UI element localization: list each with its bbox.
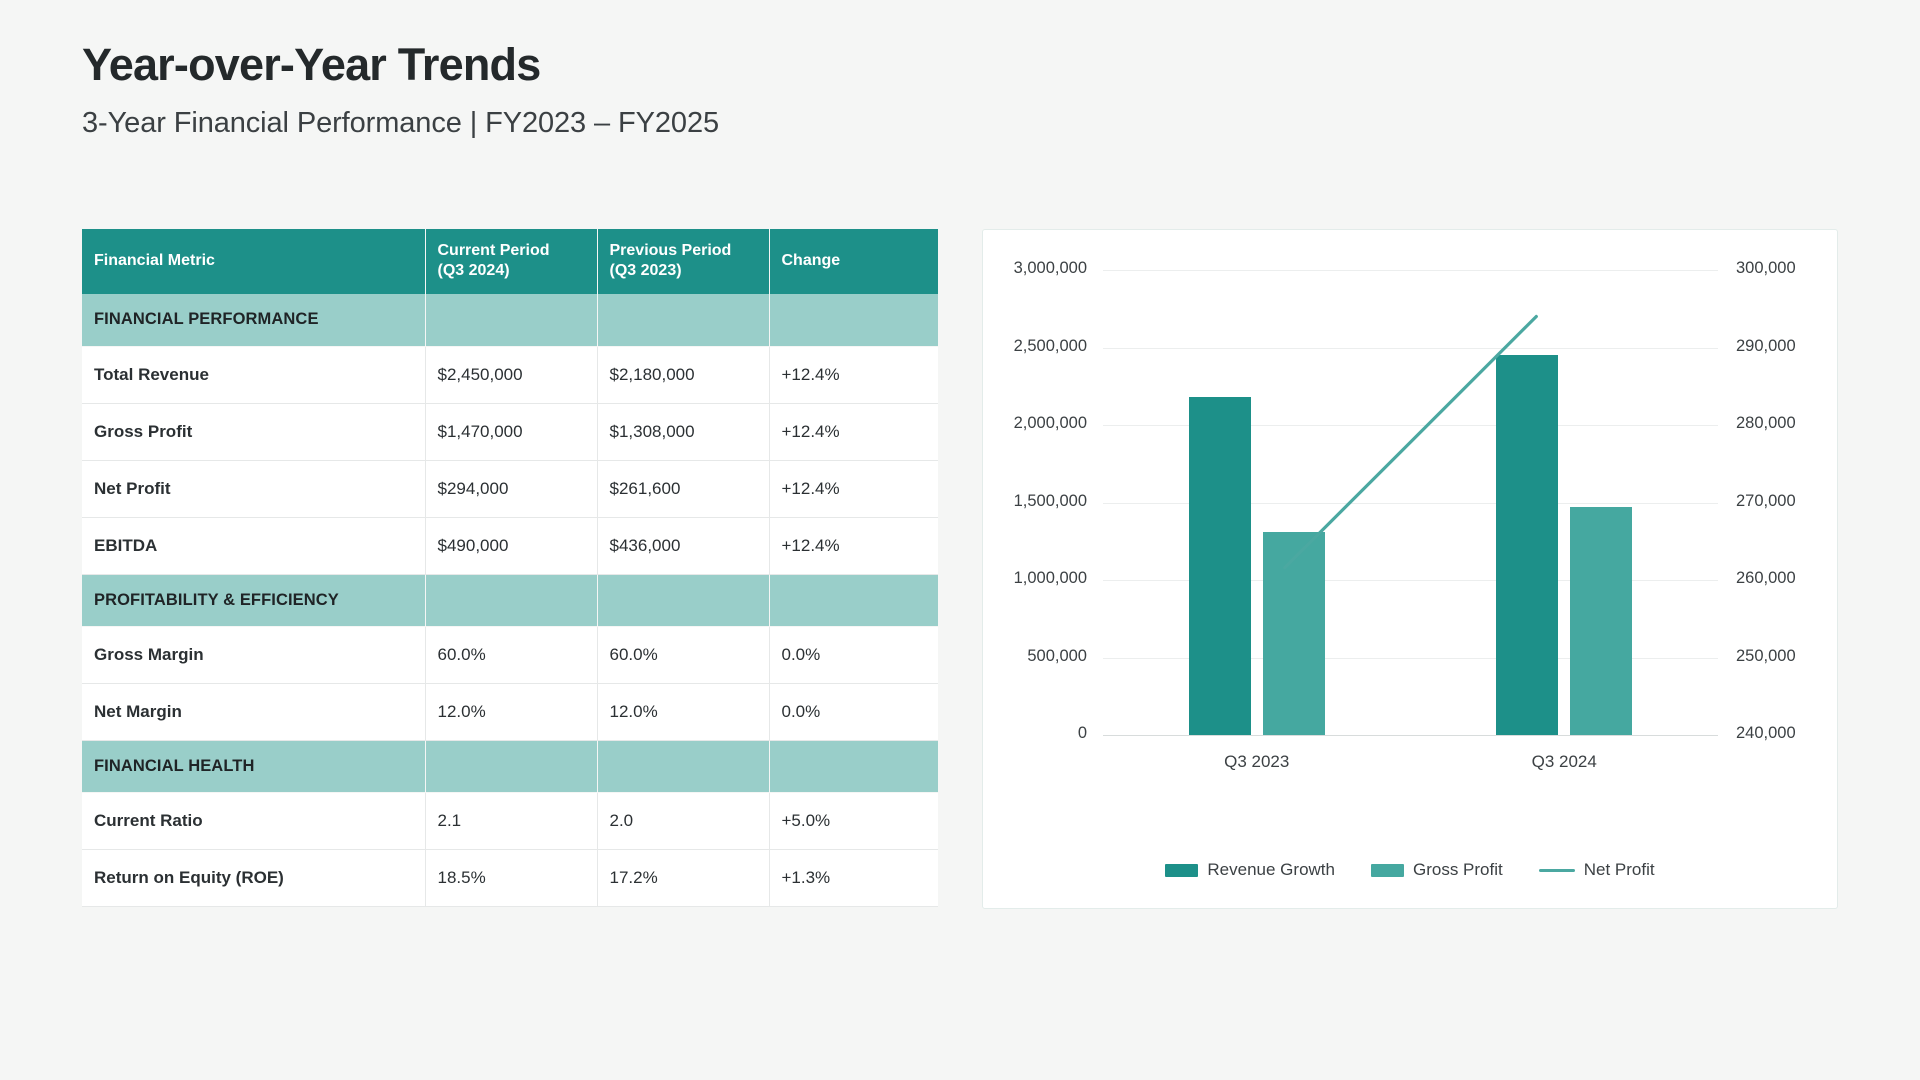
metric-value: $436,000: [597, 517, 769, 574]
table-section-row: FINANCIAL HEALTH: [82, 740, 938, 792]
metric-value: [597, 740, 769, 792]
legend-line-swatch-icon: [1539, 869, 1575, 872]
metric-label: Current Ratio: [82, 792, 425, 849]
chart-legend: Revenue GrowthGross ProfitNet Profit: [983, 860, 1837, 880]
metric-label: Net Margin: [82, 683, 425, 740]
table-body: FINANCIAL PERFORMANCETotal Revenue$2,450…: [82, 294, 938, 906]
legend-label: Net Profit: [1584, 860, 1655, 880]
table-row: Return on Equity (ROE)18.5%17.2%+1.3%: [82, 849, 938, 906]
column-header-line: Current Period: [438, 241, 585, 261]
table-row: EBITDA$490,000$436,000+12.4%: [82, 517, 938, 574]
financial-metrics-table-container: Financial MetricCurrent Period(Q3 2024)P…: [82, 229, 938, 907]
metric-label: Gross Profit: [82, 403, 425, 460]
metric-value: [425, 294, 597, 346]
metric-label: Return on Equity (ROE): [82, 849, 425, 906]
table-row: Current Ratio2.12.0+5.0%: [82, 792, 938, 849]
page-header: Year-over-Year Trends 3-Year Financial P…: [82, 40, 719, 140]
column-header-line: Previous Period: [610, 241, 757, 261]
metric-label: Gross Margin: [82, 626, 425, 683]
table-row: Total Revenue$2,450,000$2,180,000+12.4%: [82, 346, 938, 403]
section-label: FINANCIAL HEALTH: [82, 740, 425, 792]
legend-item-gross-profit[interactable]: Gross Profit: [1371, 860, 1503, 880]
column-header-line: Change: [782, 251, 927, 271]
table-row: Gross Profit$1,470,000$1,308,000+12.4%: [82, 403, 938, 460]
metric-value: 2.0: [597, 792, 769, 849]
metric-value: [769, 740, 938, 792]
legend-label: Revenue Growth: [1207, 860, 1335, 880]
column-header-line: Financial Metric: [94, 251, 413, 271]
page-title: Year-over-Year Trends: [82, 40, 719, 90]
section-label: FINANCIAL PERFORMANCE: [82, 294, 425, 346]
financial-metrics-table: Financial MetricCurrent Period(Q3 2024)P…: [82, 229, 938, 907]
metric-value: [425, 740, 597, 792]
column-header-2[interactable]: Previous Period(Q3 2023): [597, 229, 769, 294]
chart-plot-area: 0500,0001,000,0001,500,0002,000,0002,500…: [983, 230, 1839, 910]
metric-value: +12.4%: [769, 346, 938, 403]
metric-value: 17.2%: [597, 849, 769, 906]
metric-label: Total Revenue: [82, 346, 425, 403]
legend-label: Gross Profit: [1413, 860, 1503, 880]
column-header-3[interactable]: Change: [769, 229, 938, 294]
metric-value: 12.0%: [425, 683, 597, 740]
metric-value: +1.3%: [769, 849, 938, 906]
metric-value: [597, 574, 769, 626]
metric-value: 0.0%: [769, 626, 938, 683]
dashboard-page: Year-over-Year Trends 3-Year Financial P…: [0, 0, 1920, 1080]
column-header-1[interactable]: Current Period(Q3 2024): [425, 229, 597, 294]
metric-value: $294,000: [425, 460, 597, 517]
table-row: Net Profit$294,000$261,600+12.4%: [82, 460, 938, 517]
metric-value: $2,180,000: [597, 346, 769, 403]
metric-value: [425, 574, 597, 626]
legend-item-revenue-growth[interactable]: Revenue Growth: [1165, 860, 1335, 880]
column-header-line: (Q3 2024): [438, 261, 585, 281]
legend-bar-swatch-icon: [1371, 864, 1404, 877]
metric-value: 12.0%: [597, 683, 769, 740]
column-header-line: (Q3 2023): [610, 261, 757, 281]
metric-value: +12.4%: [769, 517, 938, 574]
net-profit-line-series: [983, 230, 1839, 910]
metric-value: $1,470,000: [425, 403, 597, 460]
legend-item-net-profit[interactable]: Net Profit: [1539, 860, 1655, 880]
table-row: Gross Margin60.0%60.0%0.0%: [82, 626, 938, 683]
metric-value: [769, 574, 938, 626]
table-section-row: PROFITABILITY & EFFICIENCY: [82, 574, 938, 626]
metric-value: 60.0%: [425, 626, 597, 683]
metric-label: Net Profit: [82, 460, 425, 517]
line-path: [1285, 317, 1537, 568]
table-row: Net Margin12.0%12.0%0.0%: [82, 683, 938, 740]
page-subtitle: 3-Year Financial Performance | FY2023 – …: [82, 107, 719, 140]
metric-value: 18.5%: [425, 849, 597, 906]
metric-value: [597, 294, 769, 346]
metric-value: +12.4%: [769, 403, 938, 460]
table-header: Financial MetricCurrent Period(Q3 2024)P…: [82, 229, 938, 294]
metric-value: [769, 294, 938, 346]
metric-value: 60.0%: [597, 626, 769, 683]
chart-card: 0500,0001,000,0001,500,0002,000,0002,500…: [982, 229, 1838, 909]
table-section-row: FINANCIAL PERFORMANCE: [82, 294, 938, 346]
column-header-0[interactable]: Financial Metric: [82, 229, 425, 294]
section-label: PROFITABILITY & EFFICIENCY: [82, 574, 425, 626]
metric-value: $1,308,000: [597, 403, 769, 460]
legend-bar-swatch-icon: [1165, 864, 1198, 877]
metric-value: 0.0%: [769, 683, 938, 740]
metric-value: $261,600: [597, 460, 769, 517]
metric-value: +12.4%: [769, 460, 938, 517]
table-header-row: Financial MetricCurrent Period(Q3 2024)P…: [82, 229, 938, 294]
metric-value: $2,450,000: [425, 346, 597, 403]
metric-value: $490,000: [425, 517, 597, 574]
metric-value: 2.1: [425, 792, 597, 849]
metric-value: +5.0%: [769, 792, 938, 849]
metric-label: EBITDA: [82, 517, 425, 574]
